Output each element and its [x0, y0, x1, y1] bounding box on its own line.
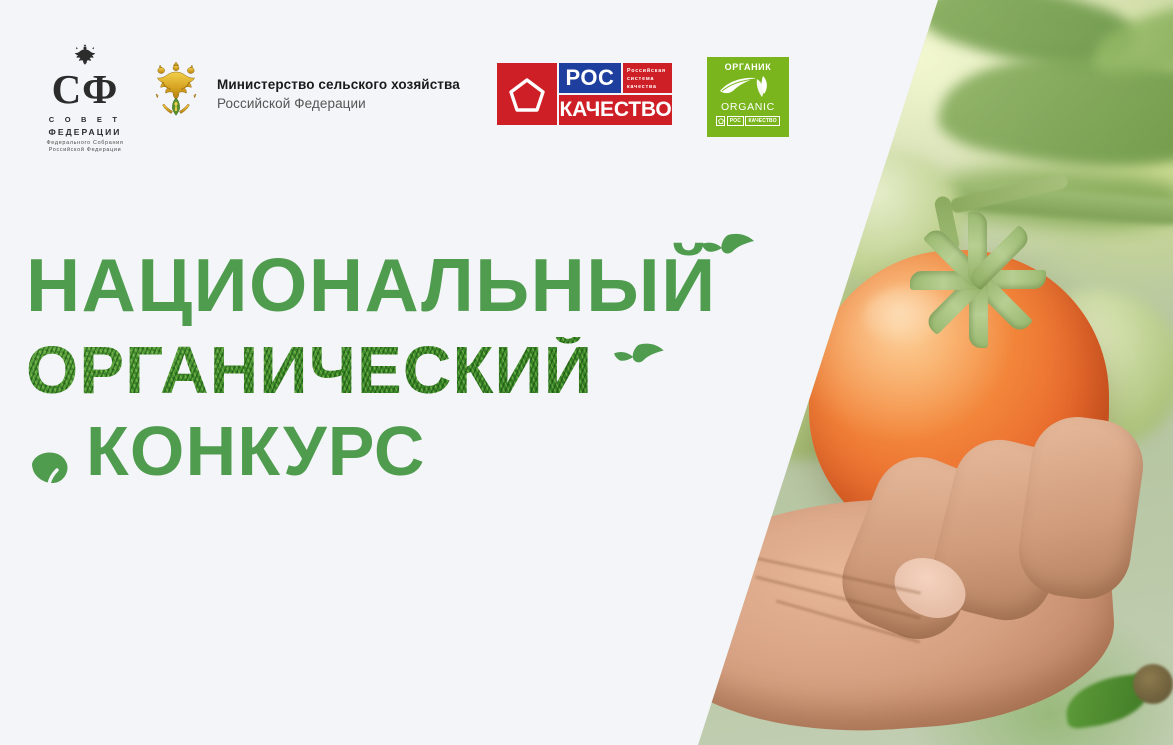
federation-line-3: Федерального Собрания	[30, 140, 140, 146]
roskachestvo-system-line-1: Российская	[627, 67, 669, 75]
organic-bottom-label: ORGANIC	[721, 101, 775, 113]
organic-top-label: ОРГАНИК	[725, 62, 772, 72]
ministry-title-line-2: Российской Федерации	[217, 96, 460, 111]
roskachestvo-pentagon-icon	[497, 63, 557, 125]
roskachestvo-system-text: Российская система качества	[623, 63, 672, 93]
logo-roskachestvo: РОС Российская система качества КАЧЕСТВО	[497, 63, 672, 125]
headline-line-1: НАЦИОНАЛЬНЫЙ	[26, 248, 786, 323]
organic-badge-ros: РОС	[727, 116, 744, 126]
headline-line-3: КОНКУРС	[26, 416, 786, 486]
ministry-title-line-1: Министерство сельского хозяйства	[217, 77, 460, 92]
roskachestvo-system-line-2: система	[627, 75, 669, 83]
federation-line-4: Российской Федерации	[30, 147, 140, 153]
roskachestvo-ros: РОС	[559, 63, 621, 93]
headline: НАЦИОНАЛЬНЫЙ ОРГАНИЧЕСКИЙ КОНКУРС	[26, 248, 786, 486]
headline-line-2: ОРГАНИЧЕСКИЙ	[26, 337, 786, 404]
logo-row: СФ С О В Е Т ФЕДЕРАЦИИ Федерального Собр…	[0, 0, 900, 160]
ministry-title: Министерство сельского хозяйства Российс…	[217, 77, 460, 111]
federation-line-2: ФЕДЕРАЦИИ	[30, 127, 140, 137]
organic-leaves-icon	[707, 72, 789, 102]
organic-badge-kachestvo: КАЧЕСТВО	[745, 116, 779, 126]
federation-line-1: С О В Е Т	[30, 115, 140, 124]
logo-organic: ОРГАНИК ORGANIC РОС КАЧЕСТВО	[707, 57, 789, 137]
federation-eagle-icon	[30, 42, 140, 68]
federation-monogram: СФ	[30, 69, 140, 110]
roskachestvo-system-line-3: качества	[627, 83, 669, 91]
organic-badge-pentagon-icon	[716, 116, 725, 126]
ministry-eagle-icon	[148, 60, 204, 127]
logo-federation-council: СФ С О В Е Т ФЕДЕРАЦИИ Федерального Собр…	[30, 42, 140, 153]
logo-ministry-agriculture: Министерство сельского хозяйства Российс…	[148, 60, 460, 127]
foreground-bud	[1133, 664, 1173, 704]
tomato-calyx	[903, 232, 1053, 328]
organic-badge: РОС КАЧЕСТВО	[716, 116, 779, 126]
roskachestvo-kachestvo: КАЧЕСТВО	[559, 95, 672, 125]
poster-canvas: СФ С О В Е Т ФЕДЕРАЦИИ Федерального Собр…	[0, 0, 1173, 745]
